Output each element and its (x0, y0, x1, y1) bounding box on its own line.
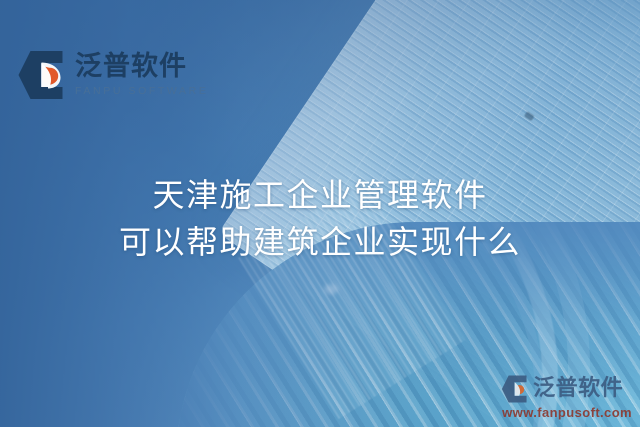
banner-headline: 天津施工企业管理软件 可以帮助建筑企业实现什么 (0, 172, 640, 266)
fanpu-logo-mark-icon (17, 50, 65, 100)
brand-logo[interactable]: 泛普软件 FANPU SOFTWARE (17, 50, 208, 100)
brand-name-en: FANPU SOFTWARE (75, 85, 208, 97)
brand-logo-text: 泛普软件 FANPU SOFTWARE (75, 53, 208, 97)
brand-name-cn: 泛普软件 (75, 53, 208, 81)
headline-line-1: 天津施工企业管理软件 (0, 172, 640, 219)
headline-line-2: 可以帮助建筑企业实现什么 (0, 219, 640, 266)
site-watermark: 泛普软件 www.fanpusoft.com (501, 375, 632, 420)
watermark-brand-row: 泛普软件 (501, 375, 623, 403)
fanpu-watermark-mark-icon (501, 375, 528, 403)
watermark-url: www.fanpusoft.com (502, 405, 632, 420)
watermark-brand-name: 泛普软件 (533, 378, 623, 400)
promo-banner: 泛普软件 FANPU SOFTWARE 天津施工企业管理软件 可以帮助建筑企业实… (0, 0, 640, 427)
